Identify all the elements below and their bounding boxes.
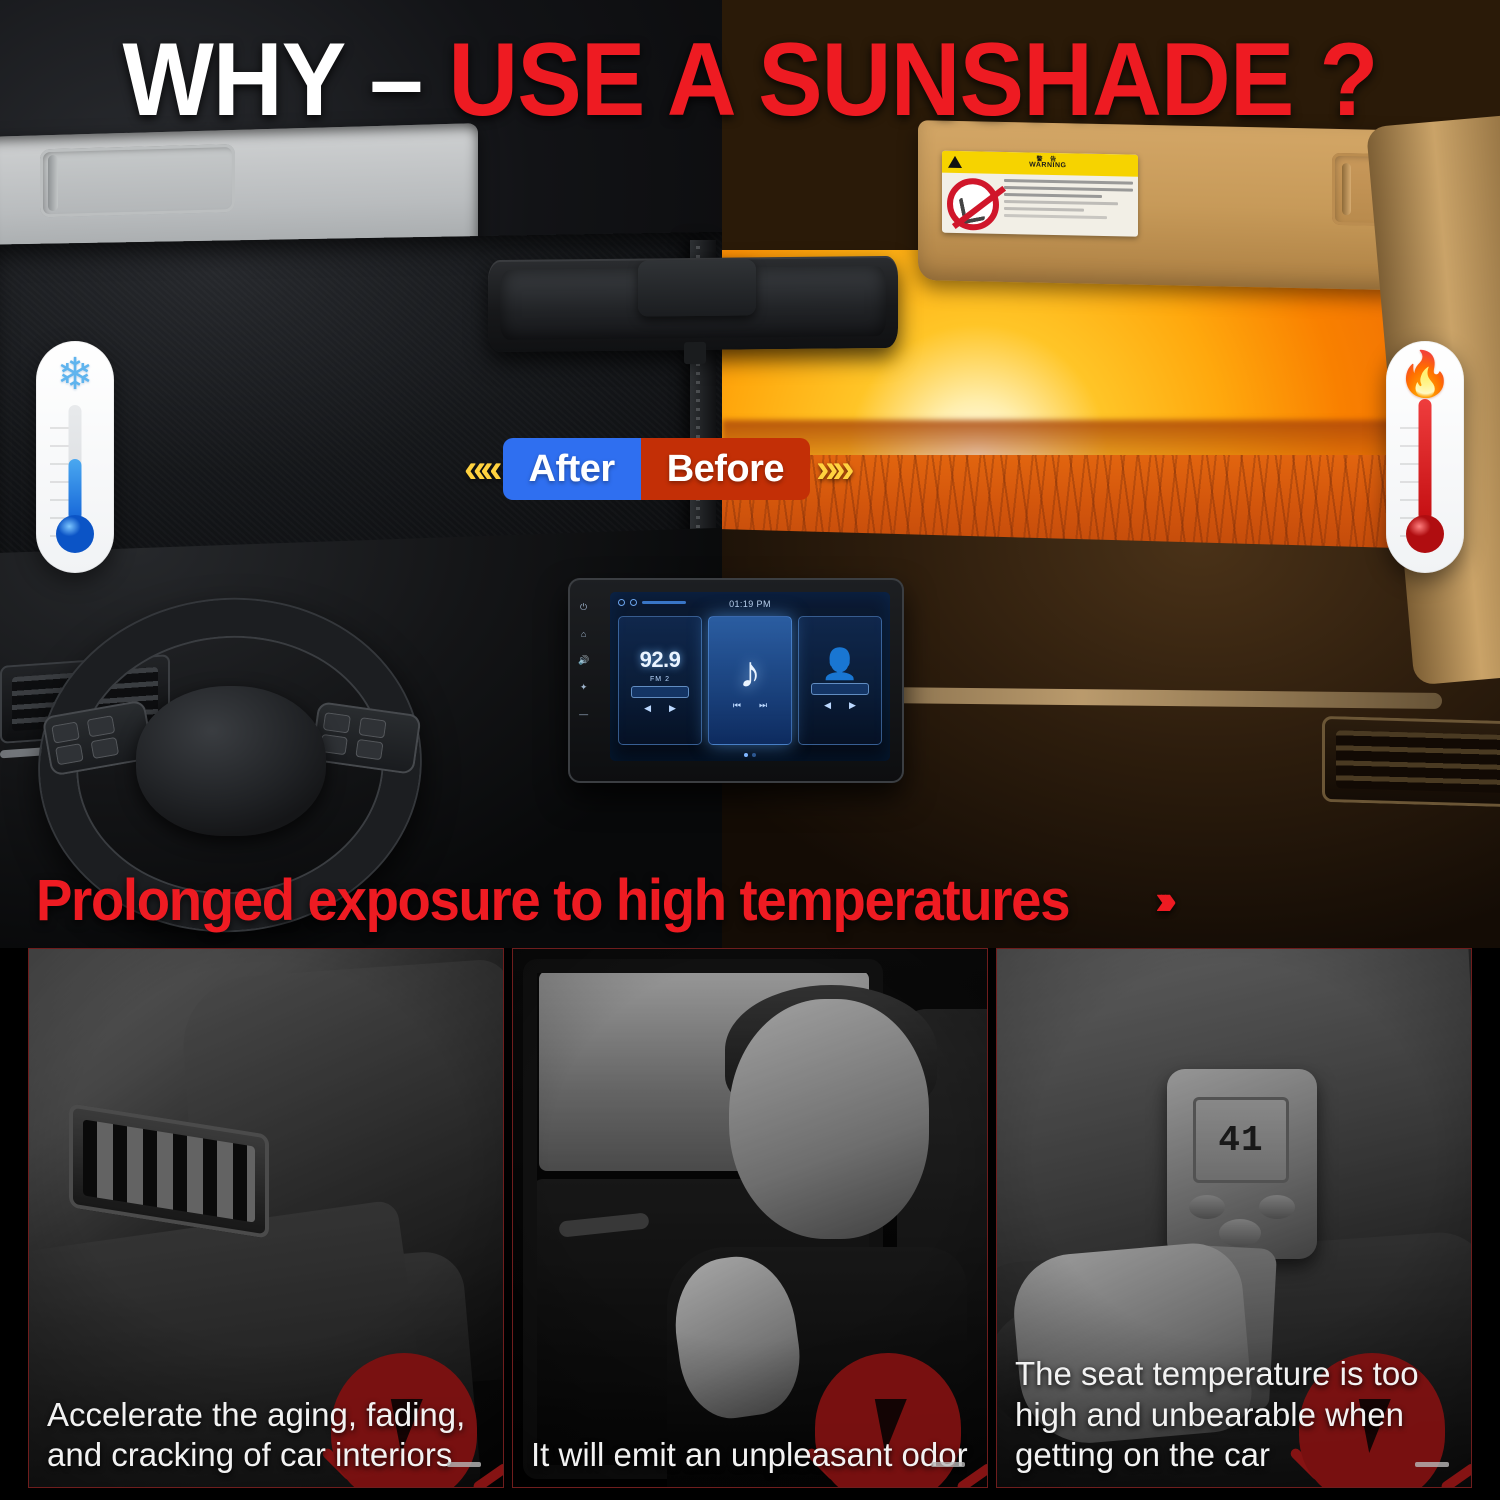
rearview-mirror [488, 256, 898, 352]
phone-card[interactable]: 👤 ◀ ▶ [798, 616, 882, 745]
power-icon[interactable]: ⏻ [580, 602, 587, 613]
snowflake-icon: ❄ [57, 353, 94, 397]
music-note-icon: ♪ [739, 651, 761, 695]
thermometer-bulb-hot [1406, 515, 1444, 553]
photo-man-covering-nose [513, 949, 987, 1487]
bluetooth-icon [618, 599, 625, 606]
right-air-vent [1322, 716, 1500, 808]
wheel-button [355, 739, 383, 760]
panel-corner-dash [1415, 1462, 1449, 1467]
contact-bar[interactable] [811, 683, 869, 695]
page-title: WHY – USE A SUNSHADE ? [53, 28, 1448, 132]
radio-controls[interactable]: ◀ ▶ [644, 703, 676, 714]
status-bar: 01:19 PM [610, 596, 890, 612]
radio-card[interactable]: 92.9 FM 2 ◀ ▶ [618, 616, 702, 745]
after-badge: After [503, 438, 641, 500]
media-controls[interactable]: ⏮ ⏭ [733, 700, 767, 711]
panel-corner-dash [931, 1462, 965, 1467]
panel-caption: It will emit an unpleasant odor [531, 1435, 975, 1475]
cold-thermometer: ❄ [36, 341, 114, 573]
clock-label: 01:19 PM [729, 599, 771, 609]
hot-thermometer: 🔥 [1386, 341, 1464, 573]
warning-line [1004, 200, 1118, 205]
before-after-hero: 警 告 WARNING [0, 0, 1500, 948]
wheel-button [51, 721, 80, 743]
warning-text-lines [1004, 179, 1133, 234]
prev-icon[interactable]: ◀ [644, 703, 651, 714]
warning-body [942, 173, 1138, 237]
wheel-button [358, 717, 386, 738]
warning-title: WARNING [1029, 161, 1066, 169]
signal-icon [630, 599, 637, 606]
person-icon: 👤 [821, 650, 858, 680]
thermometer-fill-hot [1419, 399, 1432, 521]
flame-icon: 🔥 [1398, 353, 1453, 397]
thermometer-bulb-cold [56, 515, 94, 553]
wheel-button [87, 715, 116, 737]
next-icon[interactable]: ▶ [849, 700, 856, 711]
panel-caption: The seat temperature is too high and unb… [1015, 1354, 1459, 1475]
phone-controls[interactable]: ◀ ▶ [824, 700, 856, 711]
subtitle-text: Prolonged exposure to high temperatures [36, 867, 1069, 934]
left-chevron-icon: «« [458, 449, 503, 489]
person-head [729, 999, 929, 1239]
right-chevron-icon: »» [810, 449, 855, 489]
volume-icon[interactable]: 🔊 [578, 655, 589, 666]
steering-wheel-airbag-hub [136, 686, 326, 836]
warning-line [1004, 214, 1107, 219]
thermometer-button [1259, 1195, 1295, 1219]
thermometer-body: 41 [1167, 1069, 1317, 1259]
warning-triangle-icon [948, 156, 962, 168]
wheel-button [90, 737, 119, 759]
warning-line [1004, 186, 1133, 192]
infotainment-head-unit[interactable]: ⏻ ⌂ 🔊 ✦ — 01:19 PM 92.9 [568, 578, 904, 783]
play-next-icon[interactable]: ⏭ [759, 700, 767, 711]
warning-line [1004, 193, 1102, 198]
play-prev-icon[interactable]: ⏮ [733, 700, 741, 711]
wheel-button [55, 743, 84, 765]
headline-red: USE A SUNSHADE ? [448, 22, 1377, 138]
minus-icon[interactable]: — [579, 709, 588, 719]
prev-icon[interactable]: ◀ [824, 700, 831, 711]
thermometer-reading: 41 [1218, 1120, 1263, 1161]
panel-caption: Accelerate the aging, fading, and cracki… [47, 1395, 491, 1476]
subtitle-chevrons-icon: ››› [1155, 876, 1167, 924]
page-dot-active[interactable] [744, 753, 748, 757]
headline-white: WHY – [122, 22, 448, 138]
product-infographic: 警 告 WARNING [0, 0, 1500, 1500]
thermometer-lcd: 41 [1193, 1097, 1289, 1183]
status-label-bar [642, 601, 686, 604]
panel-interior-aging: Accelerate the aging, fading, and cracki… [28, 948, 504, 1488]
radio-preset-bar[interactable] [631, 686, 689, 698]
child-seat-glyph [959, 194, 986, 224]
next-icon[interactable]: ▶ [669, 703, 676, 714]
wheel-button [323, 712, 351, 733]
status-icons [618, 599, 686, 606]
head-unit-cards[interactable]: 92.9 FM 2 ◀ ▶ ♪ ⏮ ⏭ [618, 616, 882, 745]
mirror-sensor-pod [638, 259, 756, 316]
no-child-seat-icon [947, 178, 999, 231]
radio-frequency: 92.9 [640, 647, 681, 673]
home-icon[interactable]: ⌂ [581, 629, 586, 639]
before-badge: Before [641, 438, 810, 500]
visor-warning-label: 警 告 WARNING [942, 151, 1138, 237]
thermometer-button [1189, 1195, 1225, 1219]
consequence-panels: Accelerate the aging, fading, and cracki… [0, 948, 1500, 1500]
panel-corner-dash [447, 1462, 481, 1467]
warning-bar: 警 告 WARNING [942, 151, 1138, 177]
radio-band: FM 2 [650, 676, 670, 683]
before-after-badges: «« After Before »» [458, 438, 855, 500]
head-unit-screen[interactable]: 01:19 PM 92.9 FM 2 ◀ ▶ ♪ [610, 592, 890, 761]
section-subtitle: Prolonged exposure to high temperatures … [0, 852, 1500, 948]
page-dot[interactable] [752, 753, 756, 757]
panel-unpleasant-odor: It will emit an unpleasant odor [512, 948, 988, 1488]
media-card[interactable]: ♪ ⏮ ⏭ [708, 616, 792, 745]
warning-line [1004, 207, 1084, 212]
warning-line [1004, 179, 1133, 185]
page-indicator[interactable] [744, 753, 756, 757]
mirror-stem [684, 342, 706, 364]
thermometer-button [1219, 1219, 1261, 1247]
thermometer-fill-cold [69, 459, 82, 521]
panel-seat-temperature: 41 [996, 948, 1472, 1488]
head-unit-side-keys[interactable]: ⏻ ⌂ 🔊 ✦ — [578, 602, 589, 719]
brightness-icon[interactable]: ✦ [580, 682, 588, 693]
